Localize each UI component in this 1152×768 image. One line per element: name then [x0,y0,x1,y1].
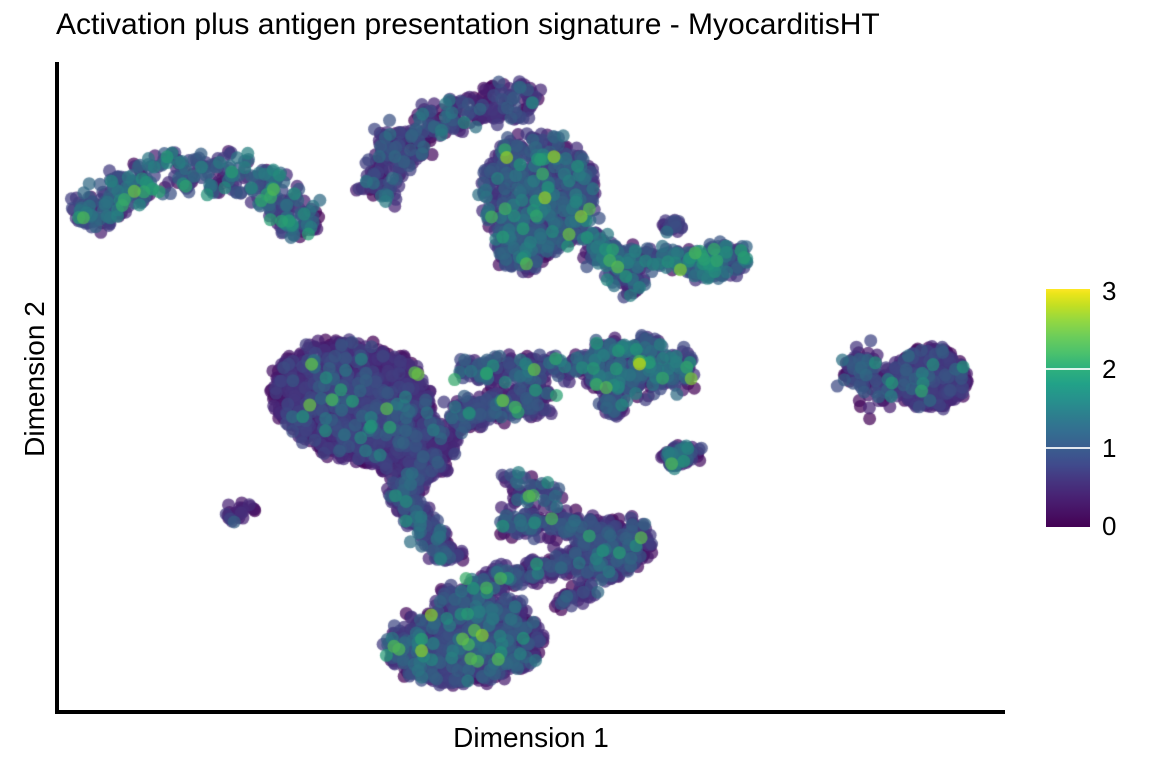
colorbar-tick-gap-2 [1063,368,1073,370]
scatter-points-canvas [59,62,1005,710]
page-title: Activation plus antigen presentation sig… [56,8,880,42]
colorbar-label-0: 0 [1102,513,1116,539]
y-axis-label: Dimension 2 [19,249,51,509]
colorbar-tick-gap-1 [1063,447,1073,449]
colorbar-gradient [1046,289,1090,527]
colorbar-label-2: 2 [1102,356,1116,382]
colorbar-legend: 3 2 1 0 [1046,289,1090,527]
scatter-plot-figure: Activation plus antigen presentation sig… [0,0,1152,768]
x-axis-line [55,710,1005,714]
colorbar-label-1: 1 [1102,435,1116,461]
x-axis-label: Dimension 1 [57,722,1005,754]
colorbar-label-3: 3 [1102,278,1116,304]
